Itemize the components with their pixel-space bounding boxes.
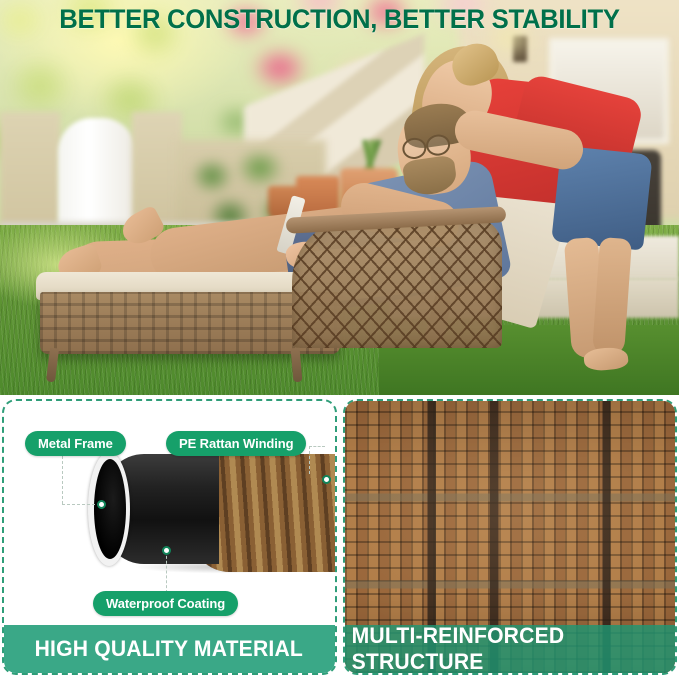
lead-rattan-vertical bbox=[309, 446, 310, 474]
lead-rattan-horizontal bbox=[309, 446, 325, 447]
footer-label-left: HIGH QUALITY MATERIAL bbox=[35, 636, 303, 662]
infographic-root: BETTER CONSTRUCTION, BETTER STABILITY bbox=[0, 0, 679, 675]
page-title: BETTER CONSTRUCTION, BETTER STABILITY bbox=[17, 4, 662, 35]
footer-high-quality-material: HIGH QUALITY MATERIAL bbox=[4, 625, 335, 673]
panel-high-quality-material: Metal Frame PE Rattan Winding Waterproof… bbox=[2, 399, 337, 675]
garden-gate bbox=[58, 118, 136, 236]
marker-pe-rattan bbox=[322, 475, 331, 484]
marker-waterproof-coating bbox=[162, 546, 171, 555]
marker-metal-frame bbox=[97, 500, 106, 509]
lead-metal-frame-horizontal bbox=[62, 504, 100, 505]
footer-label-right: MULTI-REINFORCED STRUCTURE bbox=[351, 623, 668, 675]
chaise-rattan-armrest bbox=[292, 218, 502, 348]
lead-waterproof-vertical bbox=[166, 551, 167, 593]
panel-multi-reinforced-structure: MULTI-REINFORCED STRUCTURE bbox=[343, 399, 678, 675]
hero-photo: BETTER CONSTRUCTION, BETTER STABILITY bbox=[0, 0, 679, 395]
feature-panels: Metal Frame PE Rattan Winding Waterproof… bbox=[0, 399, 679, 675]
footer-multi-reinforced-structure: MULTI-REINFORCED STRUCTURE bbox=[345, 625, 676, 673]
callout-metal-frame: Metal Frame bbox=[25, 431, 126, 456]
pipe-bore bbox=[94, 459, 126, 559]
callout-waterproof-coating: Waterproof Coating bbox=[93, 591, 238, 616]
callout-pe-rattan-winding: PE Rattan Winding bbox=[166, 431, 306, 456]
